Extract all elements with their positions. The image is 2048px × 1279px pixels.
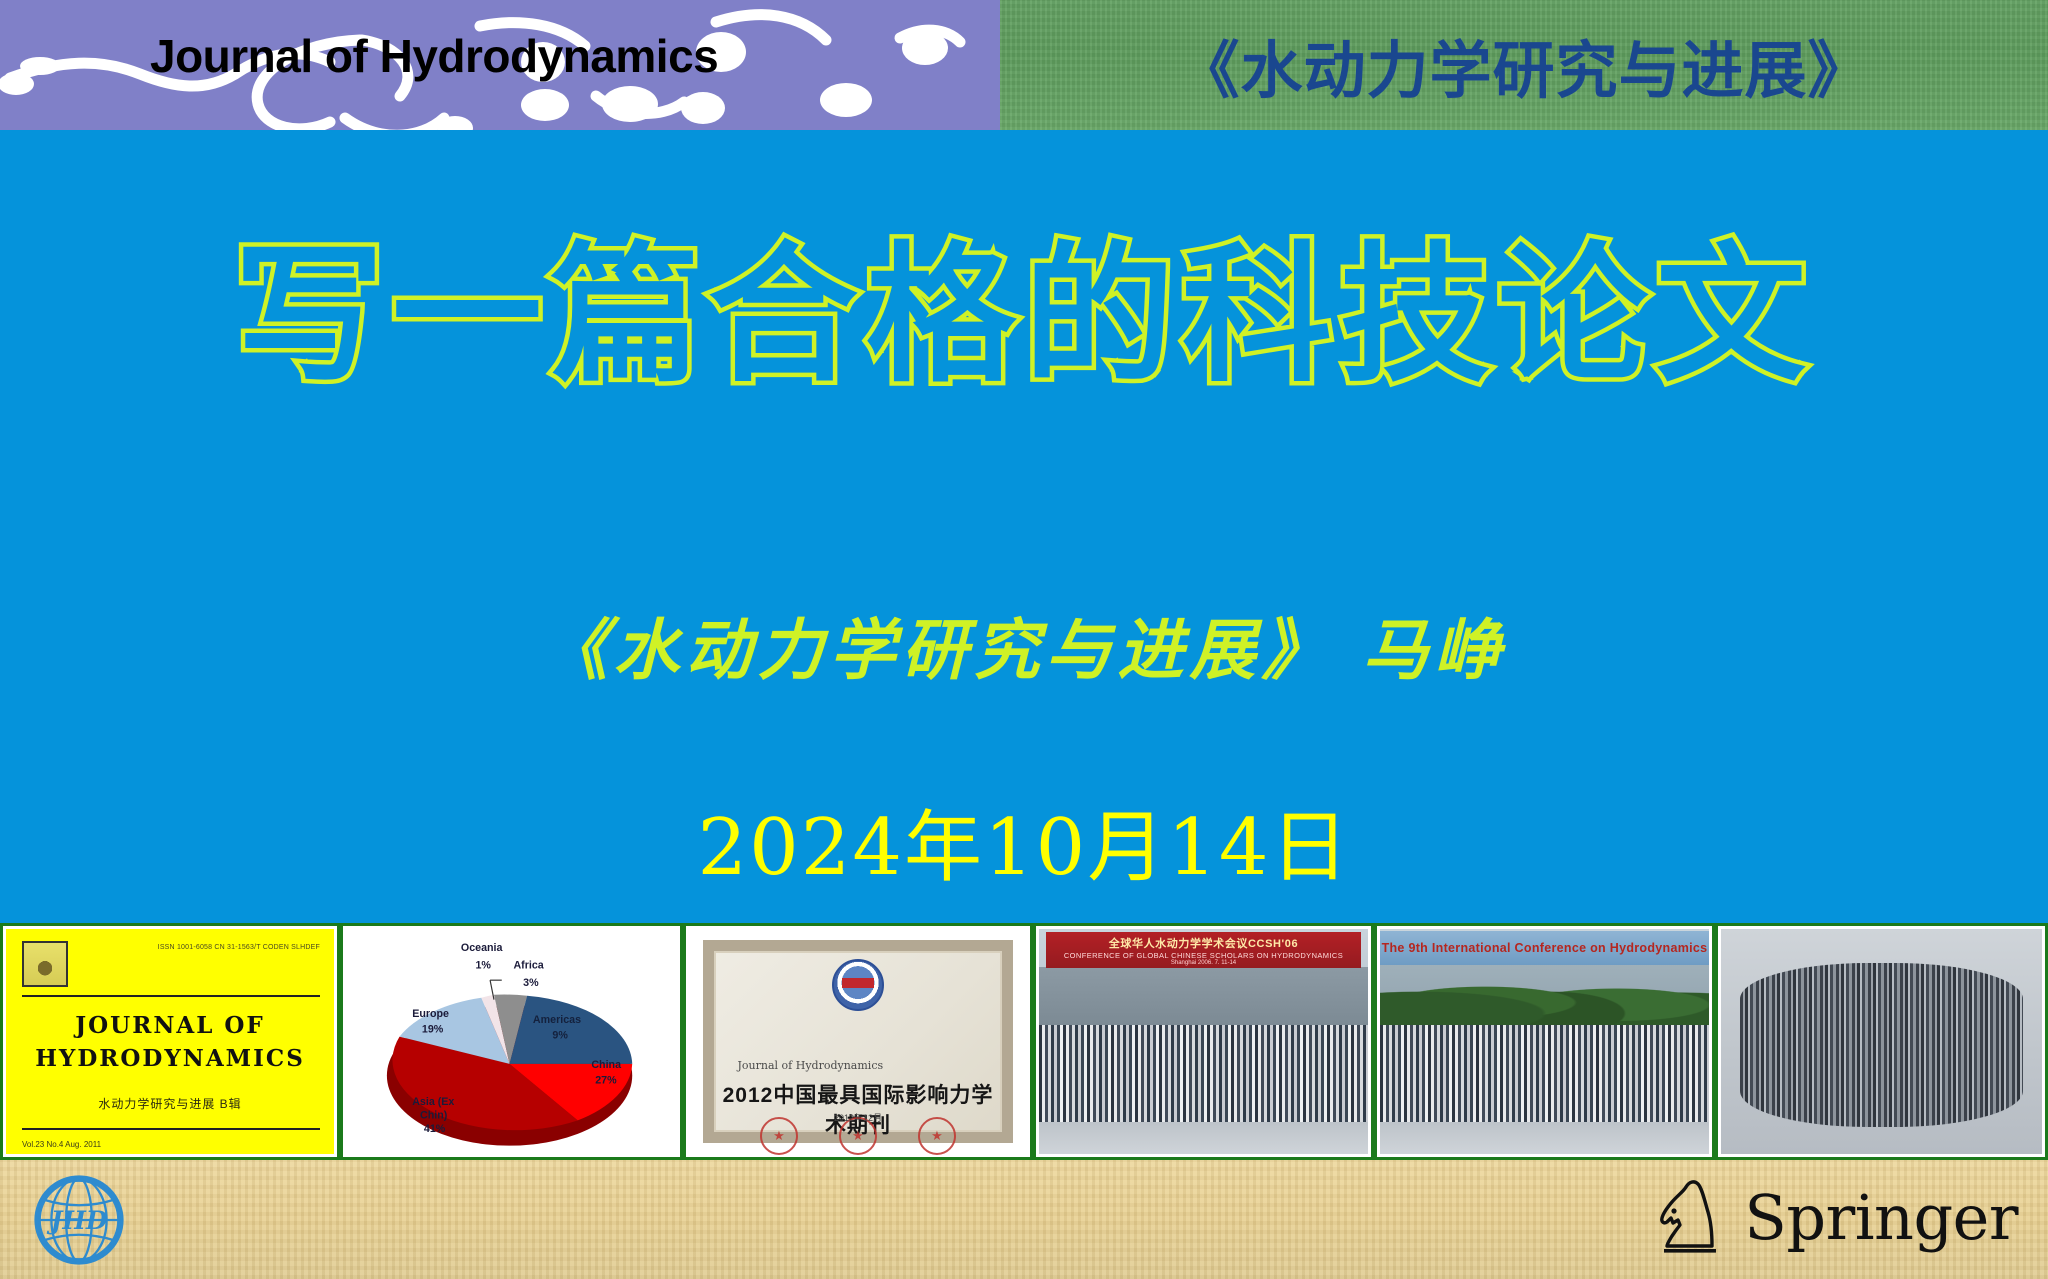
slide-subtitle-author: 《水动力学研究与进展》 马峥 xyxy=(0,597,2048,693)
certificate-seal-icon xyxy=(832,959,884,1011)
thumbnail-journal-cover[interactable]: ISSN 1001-6058 CN 31-1563/T CODEN SLHDEF… xyxy=(0,923,340,1160)
pie-label-europe: Europe xyxy=(412,1008,449,1020)
seal-banner xyxy=(842,978,874,988)
slide-date: 2024年10月14日 xyxy=(0,785,2048,897)
journal-cover-chinese: 水动力学研究与进展 B辑 xyxy=(6,1095,334,1112)
cover-divider-top xyxy=(22,995,320,997)
thumbnail-strip: ISSN 1001-6058 CN 31-1563/T CODEN SLHDEF… xyxy=(0,923,2048,1160)
certificate-frame: Journal of Hydrodynamics 2012中国最具国际影响力学术… xyxy=(703,940,1014,1143)
springer-knight-icon xyxy=(1656,1178,1728,1256)
thumbnail-award-certificate[interactable]: Journal of Hydrodynamics 2012中国最具国际影响力学术… xyxy=(683,923,1033,1160)
ccsh-group-photo-image: 全球华人水动力学学术会议CCSH'06 CONFERENCE OF GLOBAL… xyxy=(1039,929,1368,1154)
thumbnail-ccsh-photo[interactable]: 全球华人水动力学学术会议CCSH'06 CONFERENCE OF GLOBAL… xyxy=(1033,923,1374,1160)
photo-crowd-aerial xyxy=(1740,963,2023,1127)
pie-label-oceania-value: 1% xyxy=(475,959,491,971)
journal-cover-image: ISSN 1001-6058 CN 31-1563/T CODEN SLHDEF… xyxy=(6,929,334,1154)
thumbnail-pie-chart[interactable]: Oceania 1% Africa 3% Americas 9% China 2… xyxy=(340,923,683,1160)
pie-label-africa: Africa xyxy=(513,959,544,971)
pie-label-asia1: Asia (Ex xyxy=(412,1096,454,1108)
thumbnail-aerial-photo[interactable] xyxy=(1715,923,2048,1160)
pie-chart-svg: Oceania 1% Africa 3% Americas 9% China 2… xyxy=(346,929,677,1154)
pie-label-china: China xyxy=(591,1059,622,1071)
cover-title-line1: JOURNAL OF xyxy=(75,1012,265,1039)
ccsh-banner-cn: 全球华人水动力学学术会议CCSH'06 xyxy=(1109,935,1298,951)
aerial-group-photo-image xyxy=(1721,929,2042,1154)
pie-label-africa-value: 3% xyxy=(523,977,539,989)
journal-volume-text: Vol.23 No.4 Aug. 2011 xyxy=(22,1140,101,1149)
ccsh-banner: 全球华人水动力学学术会议CCSH'06 CONFERENCE OF GLOBAL… xyxy=(1046,932,1362,968)
pie-label-china-value: 27% xyxy=(595,1074,617,1086)
pie-label-americas: Americas xyxy=(533,1014,581,1026)
slide-main-title: 写一篇合格的科技论文 xyxy=(0,238,2048,396)
header-journal-title: Journal of Hydrodynamics xyxy=(150,29,718,83)
thumbnail-ichd9-photo[interactable]: The 9th International Conference on Hydr… xyxy=(1374,923,1715,1160)
ccsh-banner-en: CONFERENCE OF GLOBAL CHINESE SCHOLARS ON… xyxy=(1064,951,1343,960)
slide-header: Journal of Hydrodynamics 《水动力学研究与进展》 xyxy=(0,0,2048,130)
certificate-date: 2012年12月 xyxy=(714,1111,1003,1124)
jhd-globe-logo-icon: JHD xyxy=(33,1174,125,1266)
ccsh-banner-sub: Shanghai 2006. 7. 11-14 xyxy=(1171,960,1236,966)
journal-issn-text: ISSN 1001-6058 CN 31-1563/T CODEN SLHDEF xyxy=(158,943,320,954)
header-right-panel: 《水动力学研究与进展》 xyxy=(1000,0,2048,130)
journal-cover-title: JOURNAL OF HYDRODYNAMICS xyxy=(6,1009,334,1076)
header-journal-title-cn: 《水动力学研究与进展》 xyxy=(1000,20,2048,110)
certificate-journal-name: Journal of Hydrodynamics xyxy=(738,1059,884,1072)
pie-chart-image: Oceania 1% Africa 3% Americas 9% China 2… xyxy=(346,929,677,1154)
certificate-image: Journal of Hydrodynamics 2012中国最具国际影响力学术… xyxy=(689,929,1027,1154)
photo-ground xyxy=(1039,1122,1368,1154)
pie-label-americas-value: 9% xyxy=(552,1030,568,1042)
presentation-slide: Journal of Hydrodynamics 《水动力学研究与进展》 写一篇… xyxy=(0,0,2048,1279)
springer-wordmark: Springer xyxy=(1744,1181,2018,1254)
ichd9-banner: The 9th International Conference on Hydr… xyxy=(1380,931,1709,965)
pie-label-europe-value: 19% xyxy=(422,1024,444,1036)
jhd-logo-text: JHD xyxy=(47,1206,108,1235)
photo-ground xyxy=(1380,1122,1709,1154)
pie-label-asia-value: 41% xyxy=(424,1123,446,1135)
cover-title-line2: HYDRODYNAMICS xyxy=(35,1045,305,1072)
photo-building xyxy=(1039,967,1368,1033)
header-left-panel: Journal of Hydrodynamics xyxy=(0,0,1000,130)
slide-footer: JHD Springer xyxy=(0,1160,2048,1279)
ichd9-group-photo-image: The 9th International Conference on Hydr… xyxy=(1380,929,1709,1154)
springer-logo: Springer xyxy=(1656,1178,2018,1256)
journal-emblem-icon xyxy=(22,941,68,987)
pie-label-asia2: Chin) xyxy=(420,1109,448,1121)
cover-divider-bottom xyxy=(22,1128,320,1130)
ichd9-banner-en: The 9th International Conference on Hydr… xyxy=(1382,941,1708,955)
pie-label-oceania: Oceania xyxy=(461,942,504,954)
